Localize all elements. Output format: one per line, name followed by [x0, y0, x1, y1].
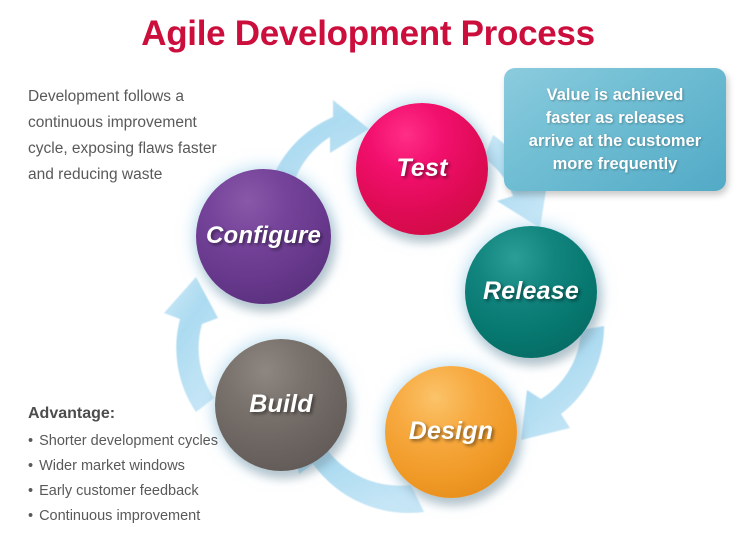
advantage-list: Shorter development cycles Wider market … [28, 429, 258, 529]
callout-box: Value is achieved faster as releases arr… [504, 68, 726, 191]
advantage-heading: Advantage: [28, 405, 258, 423]
page-title: Agile Development Process [0, 14, 736, 54]
callout-line-2: faster as releases [529, 107, 701, 130]
cycle-node-design-label: Design [409, 417, 494, 446]
cycle-node-test-label: Test [396, 154, 447, 183]
arrow-build-to-configure [164, 277, 218, 412]
cycle-node-configure-label: Configure [206, 222, 321, 250]
cycle-node-build-label: Build [249, 390, 313, 419]
intro-line-2: continuous improvement [28, 110, 243, 136]
advantage-block: Advantage: Shorter development cycles Wi… [28, 405, 258, 529]
callout-line-4: more frequently [529, 153, 701, 176]
callout-text: Value is achieved faster as releases arr… [521, 84, 709, 176]
list-item: Early customer feedback [28, 479, 258, 504]
cycle-node-configure[interactable]: Configure [196, 169, 331, 304]
list-item: Shorter development cycles [28, 429, 258, 454]
cycle-node-release[interactable]: Release [465, 226, 597, 358]
slide-canvas: Agile Development Process Development fo… [0, 0, 736, 552]
list-item: Continuous improvement [28, 504, 258, 529]
intro-paragraph: Development follows a continuous improve… [28, 84, 243, 188]
callout-line-1: Value is achieved [529, 84, 701, 107]
cycle-node-release-label: Release [483, 277, 579, 306]
intro-line-3: cycle, exposing flaws faster [28, 136, 243, 162]
intro-line-1: Development follows a [28, 84, 243, 110]
intro-line-4: and reducing waste [28, 162, 243, 188]
cycle-node-test[interactable]: Test [356, 103, 488, 235]
list-item: Wider market windows [28, 454, 258, 479]
cycle-node-design[interactable]: Design [385, 366, 517, 498]
callout-line-3: arrive at the customer [529, 130, 701, 153]
